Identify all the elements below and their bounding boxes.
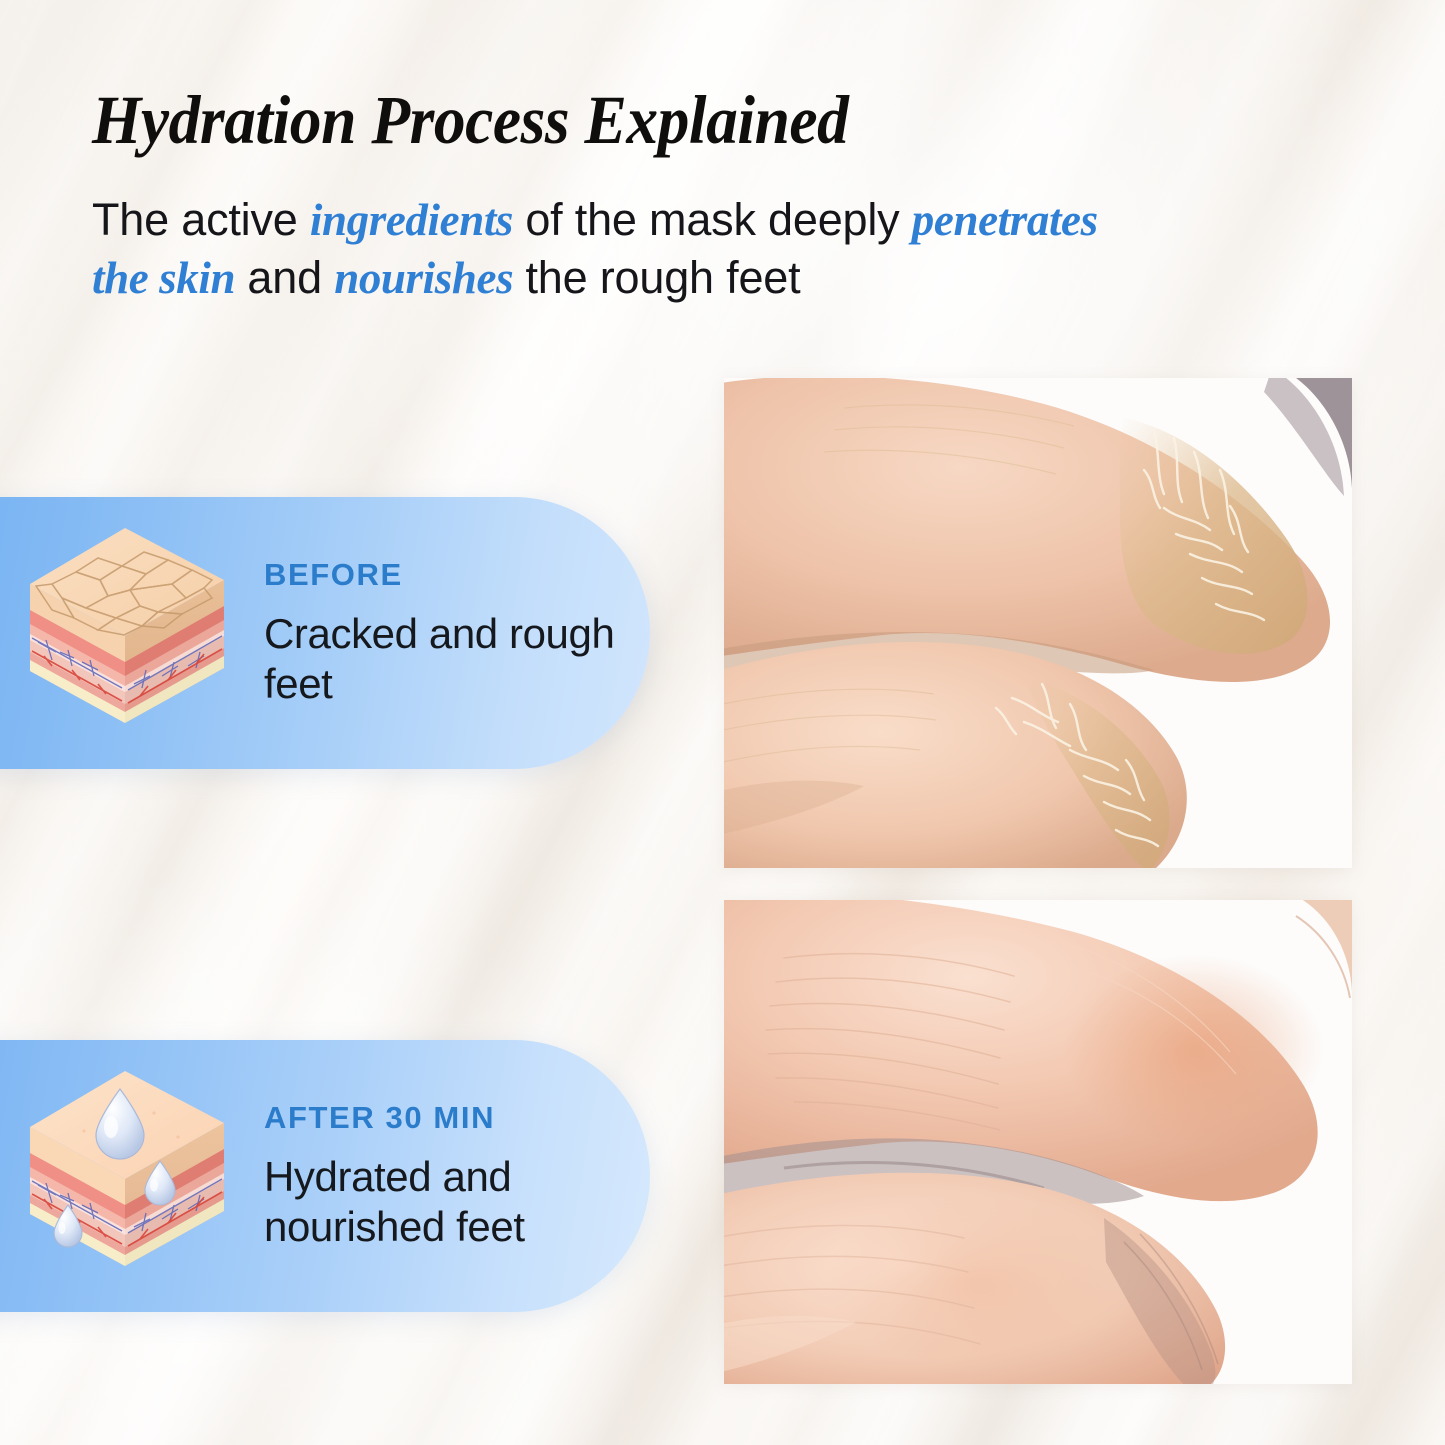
step-card-after: AFTER 30 MIN Hydrated and nourished feet xyxy=(0,1040,650,1312)
page-subtitle: The active ingredients of the mask deepl… xyxy=(92,191,1102,307)
subtitle-part-1: The active xyxy=(92,194,310,245)
subtitle-emphasis-ingredients: ingredients xyxy=(310,195,513,245)
photo-before-cracked-heels xyxy=(724,378,1352,868)
hydrated-skin-layers-icon xyxy=(12,1061,242,1291)
subtitle-part-4: the rough feet xyxy=(513,252,800,303)
step-card-before: BEFORE Cracked and rough feet xyxy=(0,497,650,769)
step-kicker-before: BEFORE xyxy=(264,557,650,593)
step-description-after: Hydrated and nourished feet xyxy=(264,1152,650,1253)
page-title: Hydration Process Explained xyxy=(92,86,1021,155)
step-text-after: AFTER 30 MIN Hydrated and nourished feet xyxy=(264,1100,650,1253)
step-description-before: Cracked and rough feet xyxy=(264,609,650,710)
step-text-before: BEFORE Cracked and rough feet xyxy=(264,557,650,710)
photo-after-smooth-heels xyxy=(724,900,1352,1384)
subtitle-emphasis-nourishes: nourishes xyxy=(334,253,513,303)
cracked-skin-layers-icon xyxy=(12,518,242,748)
subtitle-part-2: of the mask deeply xyxy=(513,194,912,245)
subtitle-part-3: and xyxy=(235,252,334,303)
step-kicker-after: AFTER 30 MIN xyxy=(264,1100,650,1136)
headline-block: Hydration Process Explained The active i… xyxy=(92,86,1102,307)
infographic-root: Hydration Process Explained The active i… xyxy=(0,0,1445,1445)
